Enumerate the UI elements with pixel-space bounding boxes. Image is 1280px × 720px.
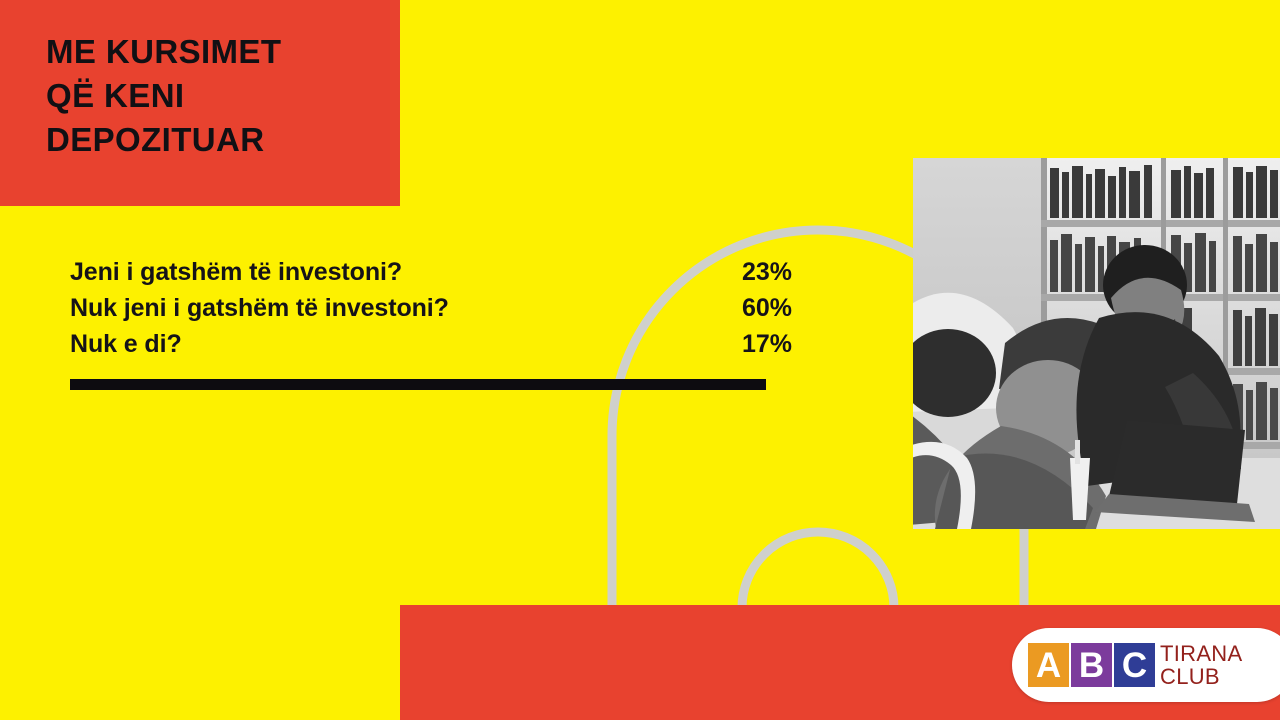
title-line-2: QË KENI [46, 74, 396, 118]
page-title: ME KURSIMET QË KENI DEPOZITUAR [46, 30, 396, 162]
poll-row-value: 60% [718, 294, 792, 323]
title-block: ME KURSIMET QË KENI DEPOZITUAR [0, 0, 400, 206]
poll-results: Jeni i gatshëm të investoni? 23% Nuk jen… [70, 258, 792, 366]
logo-wordmark: TIRANA CLUB [1160, 642, 1242, 688]
poll-row-label: Nuk jeni i gatshëm të investoni? [70, 294, 449, 323]
logo-word-club: CLUB [1160, 665, 1242, 688]
poll-row: Jeni i gatshëm të investoni? 23% [70, 258, 792, 294]
abc-tirana-club-logo: A B C TIRANA CLUB [1012, 628, 1280, 702]
poll-row-label: Jeni i gatshëm të investoni? [70, 258, 402, 287]
logo-square-b: B [1071, 643, 1112, 687]
logo-square-a: A [1028, 643, 1069, 687]
logo-word-tirana: TIRANA [1160, 642, 1242, 665]
poll-row-value: 17% [718, 330, 792, 359]
poll-row: Nuk e di? 17% [70, 330, 792, 366]
logo-square-c: C [1114, 643, 1155, 687]
library-photo-image [913, 158, 1280, 529]
title-line-3: DEPOZITUAR [46, 118, 396, 162]
slide-canvas: ME KURSIMET QË KENI DEPOZITUAR Jeni i ga… [0, 0, 1280, 720]
logo-letter-squares: A B C [1028, 643, 1155, 687]
poll-row-value: 23% [718, 258, 792, 287]
poll-row-label: Nuk e di? [70, 330, 182, 359]
poll-underline [70, 379, 766, 390]
poll-row: Nuk jeni i gatshëm të investoni? 60% [70, 294, 792, 330]
library-photo [913, 158, 1280, 529]
title-line-1: ME KURSIMET [46, 30, 396, 74]
